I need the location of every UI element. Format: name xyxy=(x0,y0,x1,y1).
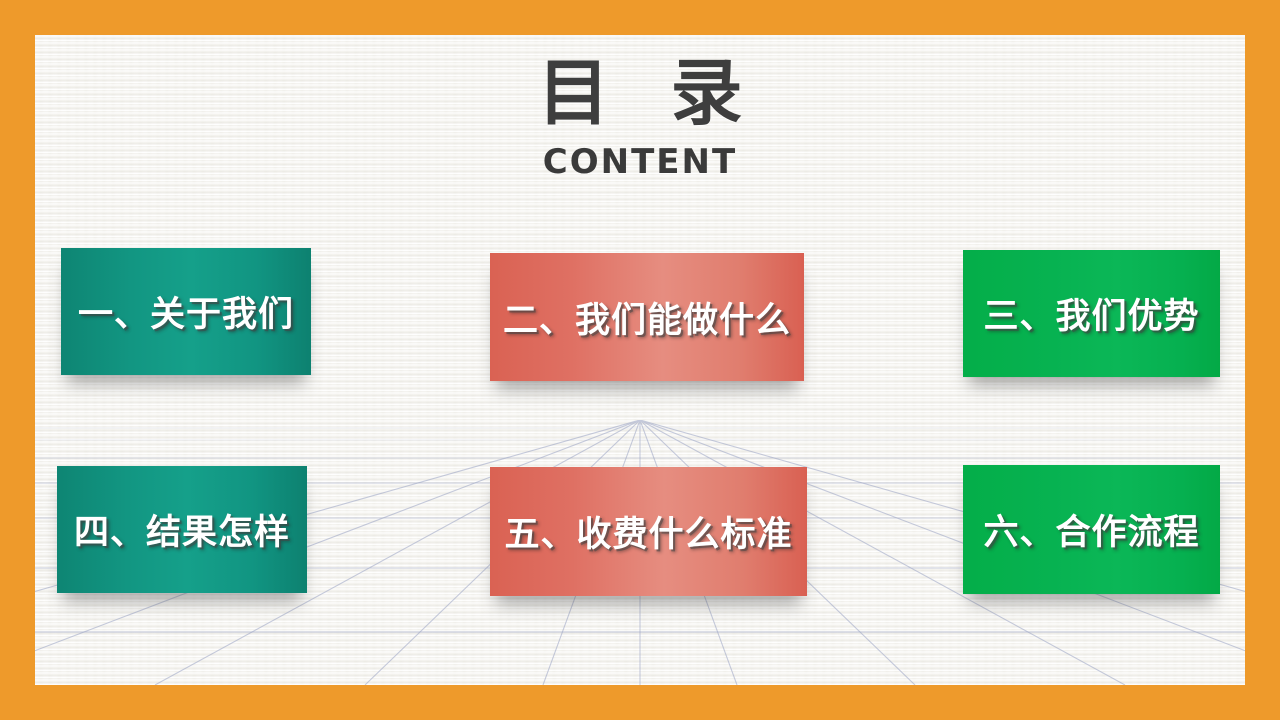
slide-canvas: 目 录 CONTENT 一、关于我们 二、我们能做什么 三、我们优势 四、结果怎… xyxy=(35,35,1245,685)
toc-item-3-label: 三、我们优势 xyxy=(983,288,1199,339)
toc-item-4[interactable]: 四、结果怎样 xyxy=(57,466,307,593)
toc-item-2-label: 二、我们能做什么 xyxy=(503,292,791,343)
presentation-slide: 目 录 CONTENT 一、关于我们 二、我们能做什么 三、我们优势 四、结果怎… xyxy=(0,0,1280,720)
toc-item-5-label: 五、收费什么标准 xyxy=(504,506,792,557)
toc-item-6-label: 六、合作流程 xyxy=(983,504,1199,555)
toc-item-1-label: 一、关于我们 xyxy=(78,286,294,337)
toc-item-5[interactable]: 五、收费什么标准 xyxy=(490,467,807,596)
slide-heading: 目 录 CONTENT xyxy=(35,57,1245,179)
toc-item-1[interactable]: 一、关于我们 xyxy=(61,248,311,375)
page-subtitle: CONTENT xyxy=(35,145,1245,179)
toc-item-2[interactable]: 二、我们能做什么 xyxy=(490,253,804,381)
page-title: 目 录 xyxy=(35,57,1245,129)
toc-item-6[interactable]: 六、合作流程 xyxy=(963,465,1220,594)
toc-item-4-label: 四、结果怎样 xyxy=(74,504,290,555)
toc-item-3[interactable]: 三、我们优势 xyxy=(963,250,1220,377)
